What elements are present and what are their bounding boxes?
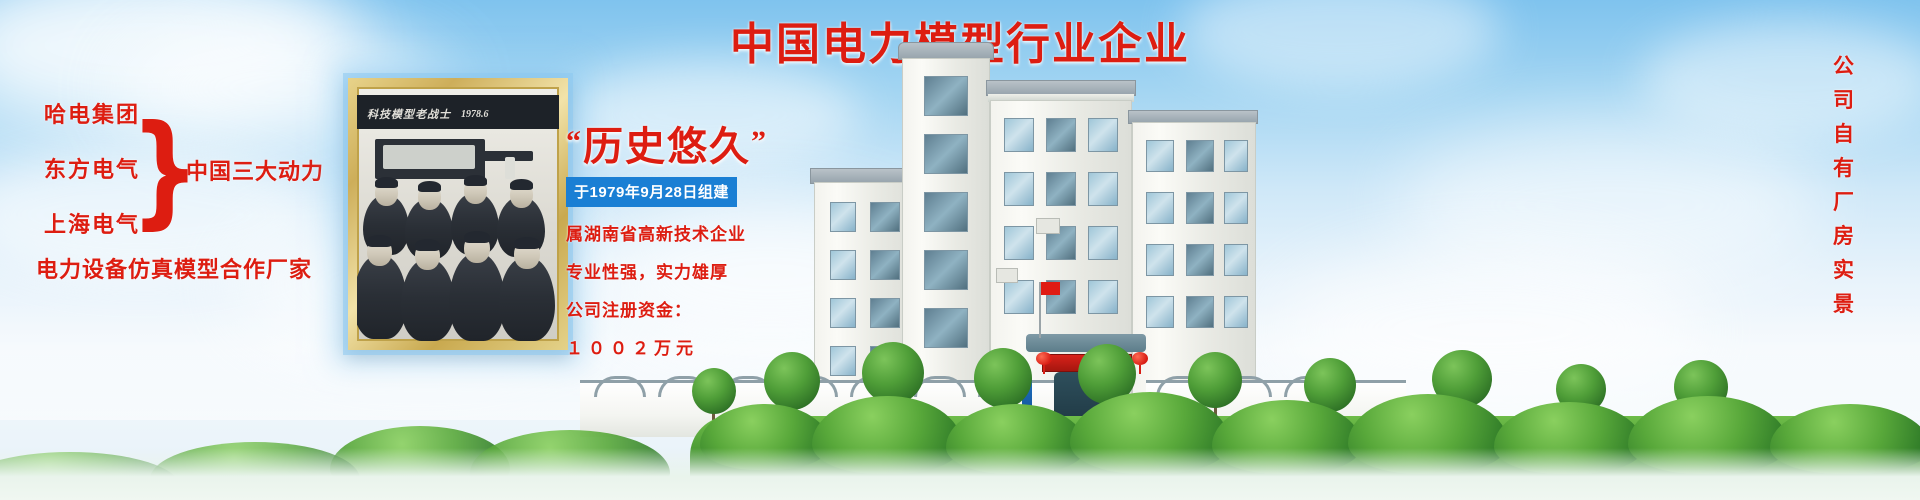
foreground-lawn [0,448,1920,500]
building-window [1146,192,1174,224]
tower-window [924,76,968,116]
left-tagline: 电力设备仿真模型合作厂家 [36,252,376,284]
historic-photo-frame: 科技模型老战士 1978.6 [348,78,568,350]
air-conditioner-unit [996,268,1018,283]
photo-person [401,259,455,341]
brand-item: 东方电气 [44,159,140,181]
hero-quote-text: 历史悠久 [583,125,751,169]
photo-person-hair [464,231,490,243]
building-window [1224,140,1248,172]
building-window [1088,226,1118,260]
building-window [830,298,856,328]
building-window [1004,118,1034,152]
building-window [1046,118,1076,152]
photo-person [449,253,505,341]
building-window [1224,296,1248,328]
photo-caption-text: 科技模型老战士 [367,106,451,122]
building-window [1224,192,1248,224]
building-window [1186,244,1214,276]
building-window [1004,172,1034,206]
vertical-char: 有 [1833,158,1854,179]
cloud-decoration [1400,120,1820,290]
brand-item: 哈电集团 [44,104,140,126]
photo-person-hair [415,239,440,251]
building-window [830,202,856,232]
building-window [870,298,900,328]
tree [862,342,924,404]
building-window [1088,280,1118,314]
building-window [1004,280,1034,314]
flag-icon [1040,282,1060,295]
vertical-char: 公 [1833,56,1854,77]
lantern-icon [1036,352,1052,365]
tree [1188,352,1242,408]
tower-window [924,250,968,290]
building-window [1186,192,1214,224]
curly-brace-icon: } [151,104,178,236]
quote-close-mark: ” [751,125,768,158]
building-window [830,346,856,376]
photo-furniture [505,157,515,179]
founded-badge: 于1979年9月28日组建 [566,177,737,207]
building-window [1088,172,1118,206]
historic-photo: 科技模型老战士 1978.6 [357,87,559,341]
photo-person-hair [514,237,540,249]
building-window [1146,296,1174,328]
building-window [1224,244,1248,276]
hero-quote: “历史悠久” [566,126,796,168]
photo-furniture [383,145,475,169]
center-copy-block: “历史悠久” 于1979年9月28日组建 属湖南省高新技术企业 专业性强，实力雄… [566,126,796,359]
tower-window [924,192,968,232]
building-window [1046,172,1076,206]
photo-person-hair [367,235,392,247]
quote-open-mark: “ [566,125,583,158]
tree [692,368,736,414]
promo-banner: 中国电力模型行业企业 哈电集团 东方电气 上海电气 } 中国三大动力 电力设备仿… [0,0,1920,500]
brand-item: 上海电气 [44,214,140,236]
gate-pavilion-roof [1026,334,1146,352]
brand-brace-row: 哈电集团 东方电气 上海电气 } 中国三大动力 [36,104,376,236]
air-conditioner-unit [1036,218,1060,234]
building-window [1088,118,1118,152]
building-window [1186,140,1214,172]
vertical-char: 房 [1833,226,1854,247]
tree [974,348,1032,408]
photo-person-hair [418,181,441,192]
registered-capital-amount: １００２万元 [566,334,796,359]
copy-line: 专业性强，实力雄厚 [566,258,796,283]
vertical-caption: 公 司 自 有 厂 房 实 景 [1833,56,1854,315]
photo-person [499,257,555,341]
photo-caption-date: 1978.6 [461,109,489,120]
vertical-char: 司 [1833,90,1854,111]
building-window [870,202,900,232]
building-window [1146,140,1174,172]
building-window [1004,226,1034,260]
vertical-char: 景 [1833,294,1854,315]
building-window [870,250,900,280]
flag-pole [1039,282,1041,338]
tower-window [924,308,968,348]
brand-list: 哈电集团 东方电气 上海电气 [36,104,140,236]
building-window [1146,244,1174,276]
vertical-char: 厂 [1833,192,1854,213]
photo-person [357,255,407,339]
vertical-char: 实 [1833,260,1854,281]
photo-person-hair [510,179,533,190]
tower-window [924,134,968,174]
copy-line: 公司注册资金： [566,296,796,321]
photo-person-hair [464,175,487,186]
copy-line: 属湖南省高新技术企业 [566,220,796,245]
photo-person-hair [375,177,398,188]
lantern-icon [1132,352,1148,365]
photo-caption: 科技模型老战士 1978.6 [367,103,553,125]
building-window [1186,296,1214,328]
left-text-block: 哈电集团 东方电气 上海电气 } 中国三大动力 电力设备仿真模型合作厂家 [36,104,376,284]
building-window [830,250,856,280]
brace-label: 中国三大动力 [186,154,324,186]
tree [764,352,820,410]
vertical-char: 自 [1833,124,1854,145]
